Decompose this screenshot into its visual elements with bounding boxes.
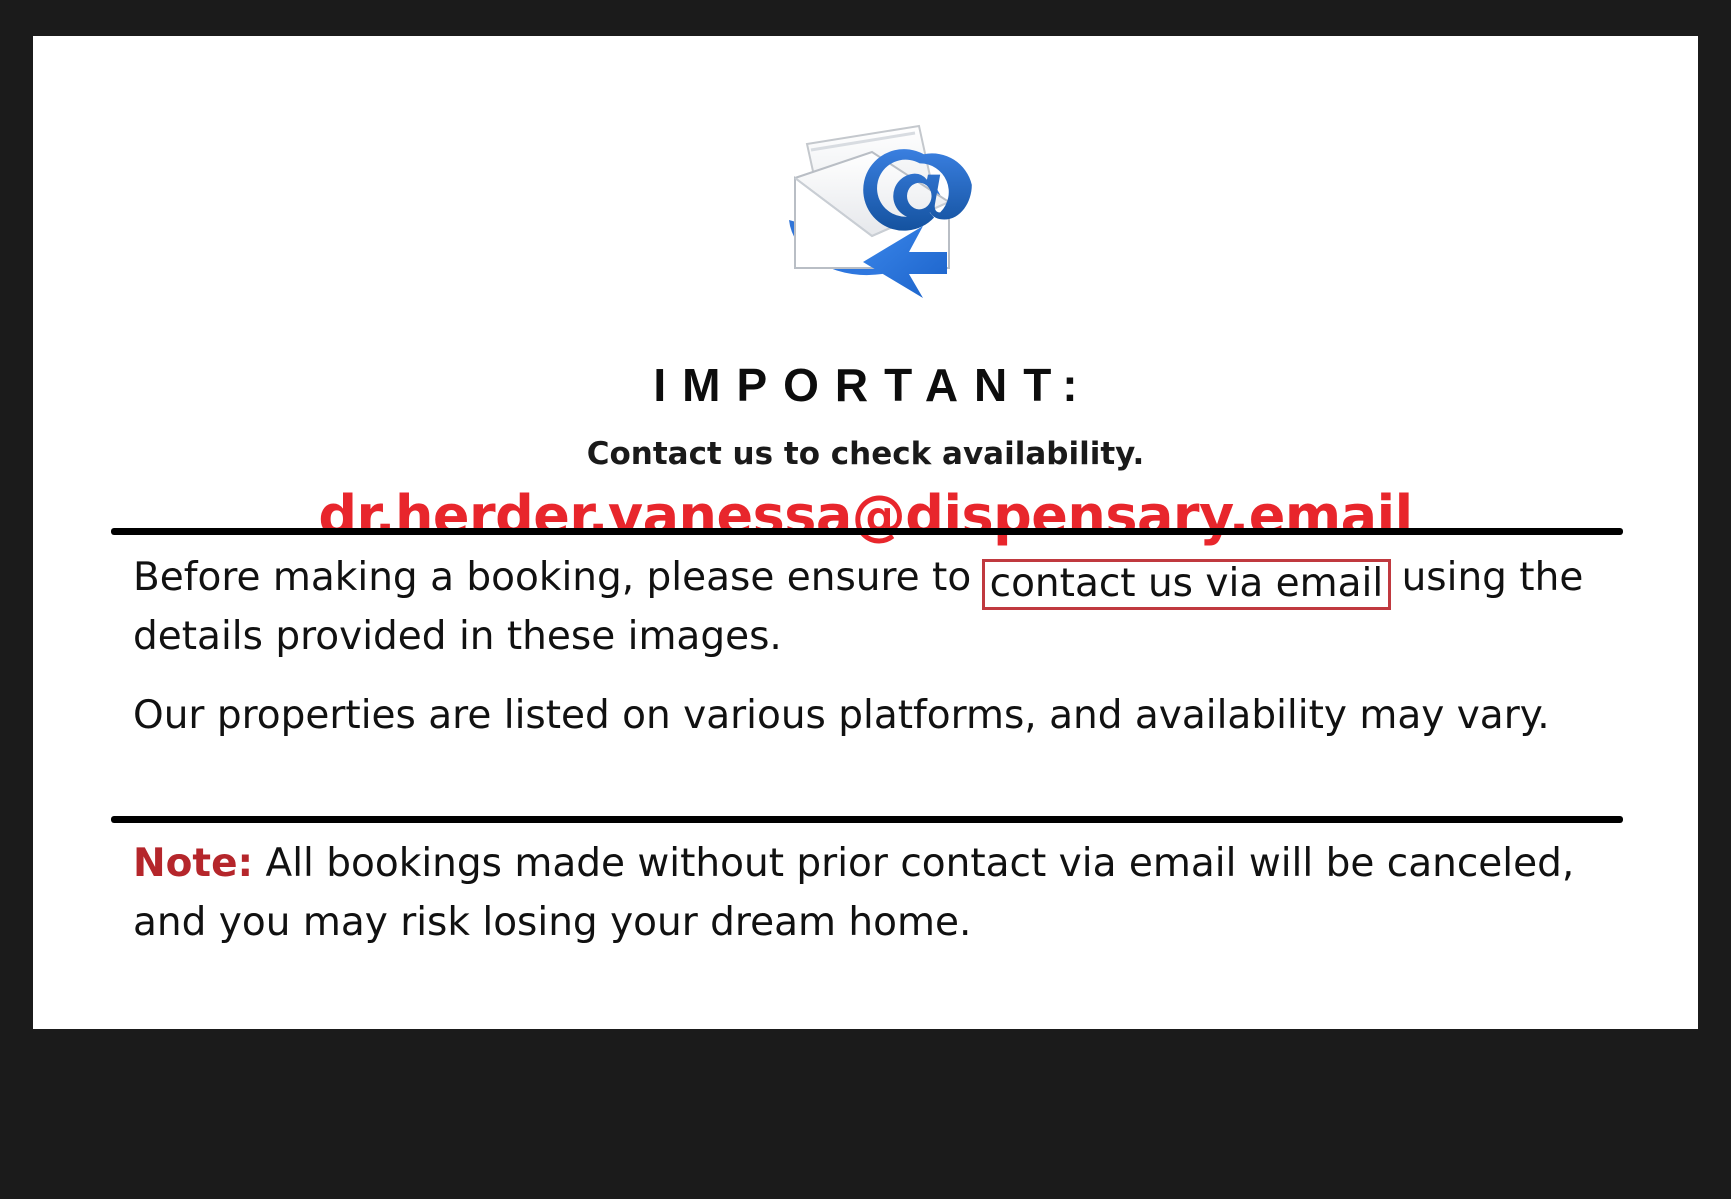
divider-top [111, 528, 1623, 535]
note-paragraph: Note: All bookings made without prior co… [133, 834, 1623, 953]
email-icon-container [33, 102, 1698, 302]
notice-card: IMPORTANT: Contact us to check availabil… [33, 36, 1698, 1029]
subtitle-text: Contact us to check availability. [33, 436, 1698, 473]
note-body-text: All bookings made without prior contact … [133, 841, 1574, 945]
email-envelope-at-icon [751, 102, 981, 298]
highlighted-phrase-contact-us-via-email: contact us via email [982, 559, 1392, 610]
instruction-paragraph-1: Before making a booking, please ensure t… [133, 548, 1623, 667]
instruction-paragraph-2: Our properties are listed on various pla… [133, 686, 1623, 745]
screenshot-canvas: IMPORTANT: Contact us to check availabil… [0, 0, 1731, 1199]
note-label: Note: [133, 841, 253, 886]
page-title: IMPORTANT: [33, 361, 1698, 409]
paragraph-1-prefix: Before making a booking, please ensure t… [133, 555, 984, 600]
divider-bottom [111, 816, 1623, 823]
contact-email-address[interactable]: dr.herder.vanessa@dispensary.email [33, 484, 1698, 549]
